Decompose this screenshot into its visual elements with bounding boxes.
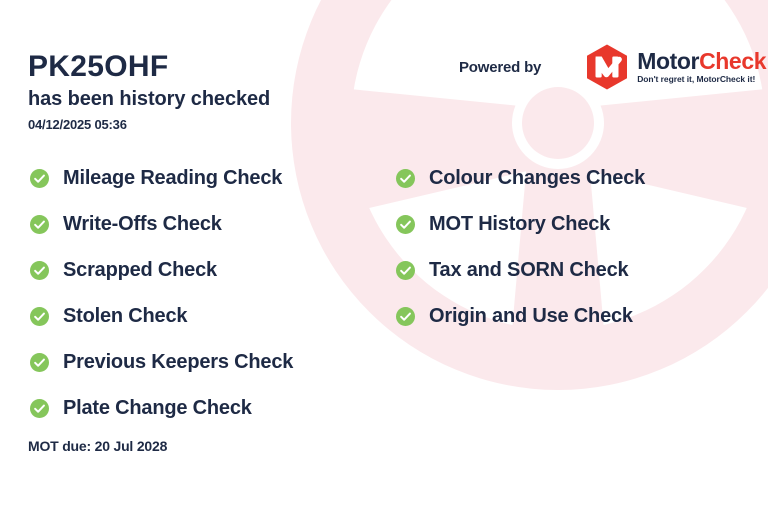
list-item: Stolen Check bbox=[30, 293, 293, 339]
mot-due-note: MOT due: 20 Jul 2028 bbox=[28, 438, 167, 454]
list-item-label: Stolen Check bbox=[63, 305, 187, 328]
green-check-circle-icon bbox=[30, 169, 49, 188]
brand-tagline: Don't regret it, MotorCheck it! bbox=[637, 75, 766, 84]
report-timestamp: 04/12/2025 05:36 bbox=[28, 117, 270, 132]
vehicle-header: PK25OHF has been history checked 04/12/2… bbox=[28, 50, 270, 132]
list-item-label: Colour Changes Check bbox=[429, 167, 645, 190]
list-item-label: Scrapped Check bbox=[63, 259, 217, 282]
list-item-label: Write-Offs Check bbox=[63, 213, 222, 236]
green-check-circle-icon bbox=[396, 261, 415, 280]
list-item: Scrapped Check bbox=[30, 247, 293, 293]
green-check-circle-icon bbox=[396, 169, 415, 188]
list-item-label: Plate Change Check bbox=[63, 397, 252, 420]
motorcheck-hexagon-m-check-icon bbox=[585, 44, 629, 90]
green-check-circle-icon bbox=[30, 399, 49, 418]
list-item: MOT History Check bbox=[396, 201, 645, 247]
list-item: Plate Change Check bbox=[30, 385, 293, 431]
wordmark-check: Check bbox=[699, 48, 766, 74]
green-check-circle-icon bbox=[30, 215, 49, 234]
green-check-circle-icon bbox=[30, 353, 49, 372]
wordmark-motor: Motor bbox=[637, 48, 699, 74]
checklist-column-left: Mileage Reading Check Write-Offs Check S… bbox=[30, 155, 293, 431]
list-item-label: Tax and SORN Check bbox=[429, 259, 628, 282]
history-check-summary-card: PK25OHF has been history checked 04/12/2… bbox=[0, 0, 768, 512]
list-item: Origin and Use Check bbox=[396, 293, 645, 339]
list-item-label: Mileage Reading Check bbox=[63, 167, 282, 190]
green-check-circle-icon bbox=[396, 215, 415, 234]
list-item-label: Previous Keepers Check bbox=[63, 351, 293, 374]
motorcheck-wordmark: MotorCheck Don't regret it, MotorCheck i… bbox=[637, 50, 766, 84]
green-check-circle-icon bbox=[396, 307, 415, 326]
list-item-label: MOT History Check bbox=[429, 213, 610, 236]
page-title: PK25OHF bbox=[28, 50, 270, 84]
green-check-circle-icon bbox=[30, 307, 49, 326]
list-item: Colour Changes Check bbox=[396, 155, 645, 201]
checklist-column-right: Colour Changes Check MOT History Check T… bbox=[396, 155, 645, 339]
powered-by-motorcheck-lockup: Powered by MotorCheck Don't regret it, M… bbox=[459, 44, 766, 90]
list-item: Mileage Reading Check bbox=[30, 155, 293, 201]
page-subtitle: has been history checked bbox=[28, 86, 270, 112]
list-item: Previous Keepers Check bbox=[30, 339, 293, 385]
list-item-label: Origin and Use Check bbox=[429, 305, 633, 328]
powered-by-label: Powered by bbox=[459, 59, 541, 76]
green-check-circle-icon bbox=[30, 261, 49, 280]
list-item: Tax and SORN Check bbox=[396, 247, 645, 293]
list-item: Write-Offs Check bbox=[30, 201, 293, 247]
